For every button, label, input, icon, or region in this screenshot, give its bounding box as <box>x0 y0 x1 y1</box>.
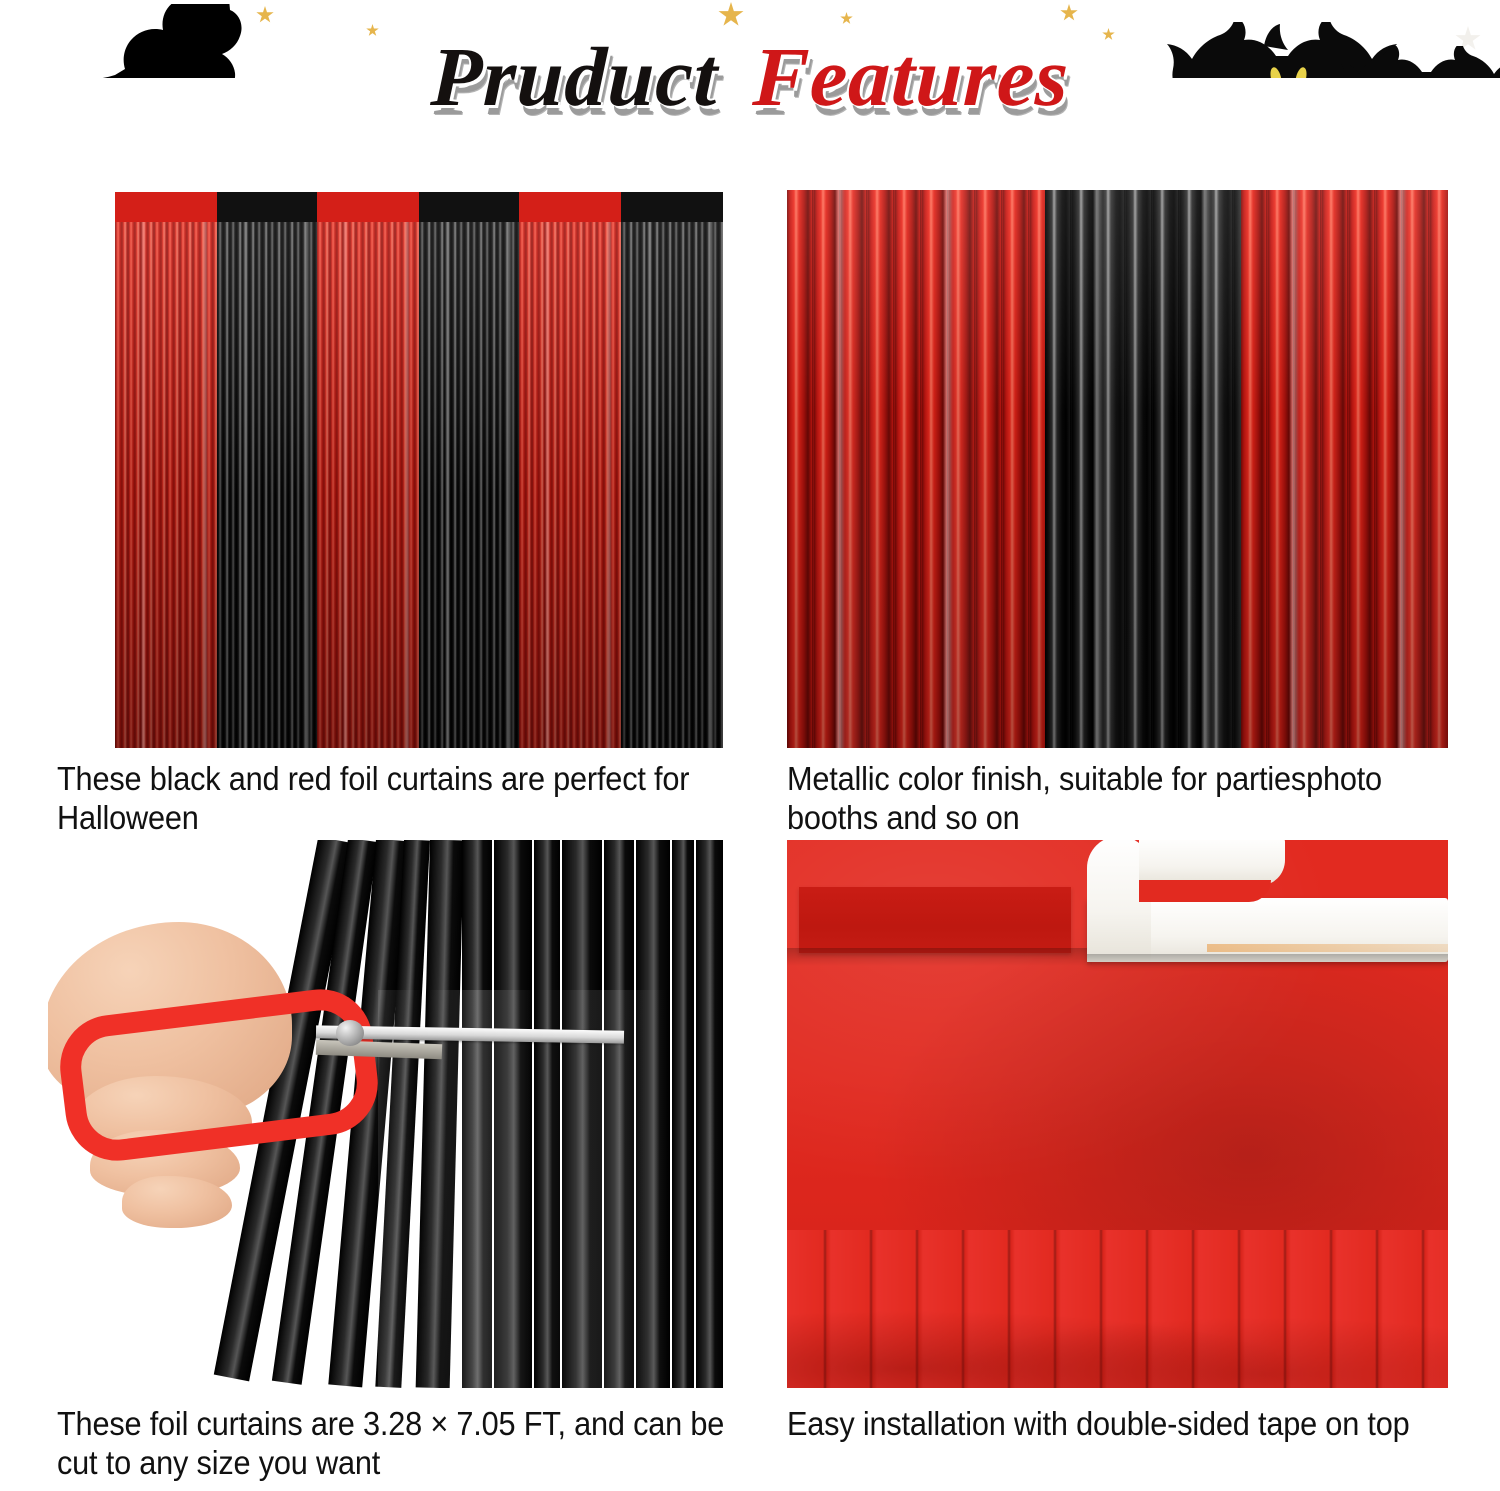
feature-1-caption: These black and red foil curtains are pe… <box>57 760 727 837</box>
curtain-fold-shadow <box>787 948 1092 966</box>
feature-3-image <box>48 840 723 1388</box>
tape-inner-gap <box>1139 880 1271 902</box>
scissors-pivot-screw <box>336 1020 364 1046</box>
page-title-word-1: Pruduct <box>430 36 720 120</box>
page-header-banner: PruductFeatures <box>0 0 1500 168</box>
feature-4-image <box>787 840 1448 1388</box>
tape-backing-band <box>799 887 1071 953</box>
tape-adhesive-tint <box>1207 944 1448 952</box>
tape-edge-shadow <box>1087 954 1448 966</box>
red-fringe-strips <box>787 1230 1448 1388</box>
feature-2-image <box>787 190 1448 748</box>
feature-4-caption: Easy installation with double-sided tape… <box>787 1405 1466 1444</box>
page-title: PruductFeatures <box>0 36 1500 120</box>
feature-1-image <box>115 192 723 748</box>
feature-3-caption: These foil curtains are 3.28 × 7.05 FT, … <box>57 1405 727 1482</box>
feature-2-caption: Metallic color finish, suitable for part… <box>787 760 1466 837</box>
page-title-word-2: Features <box>751 36 1070 120</box>
